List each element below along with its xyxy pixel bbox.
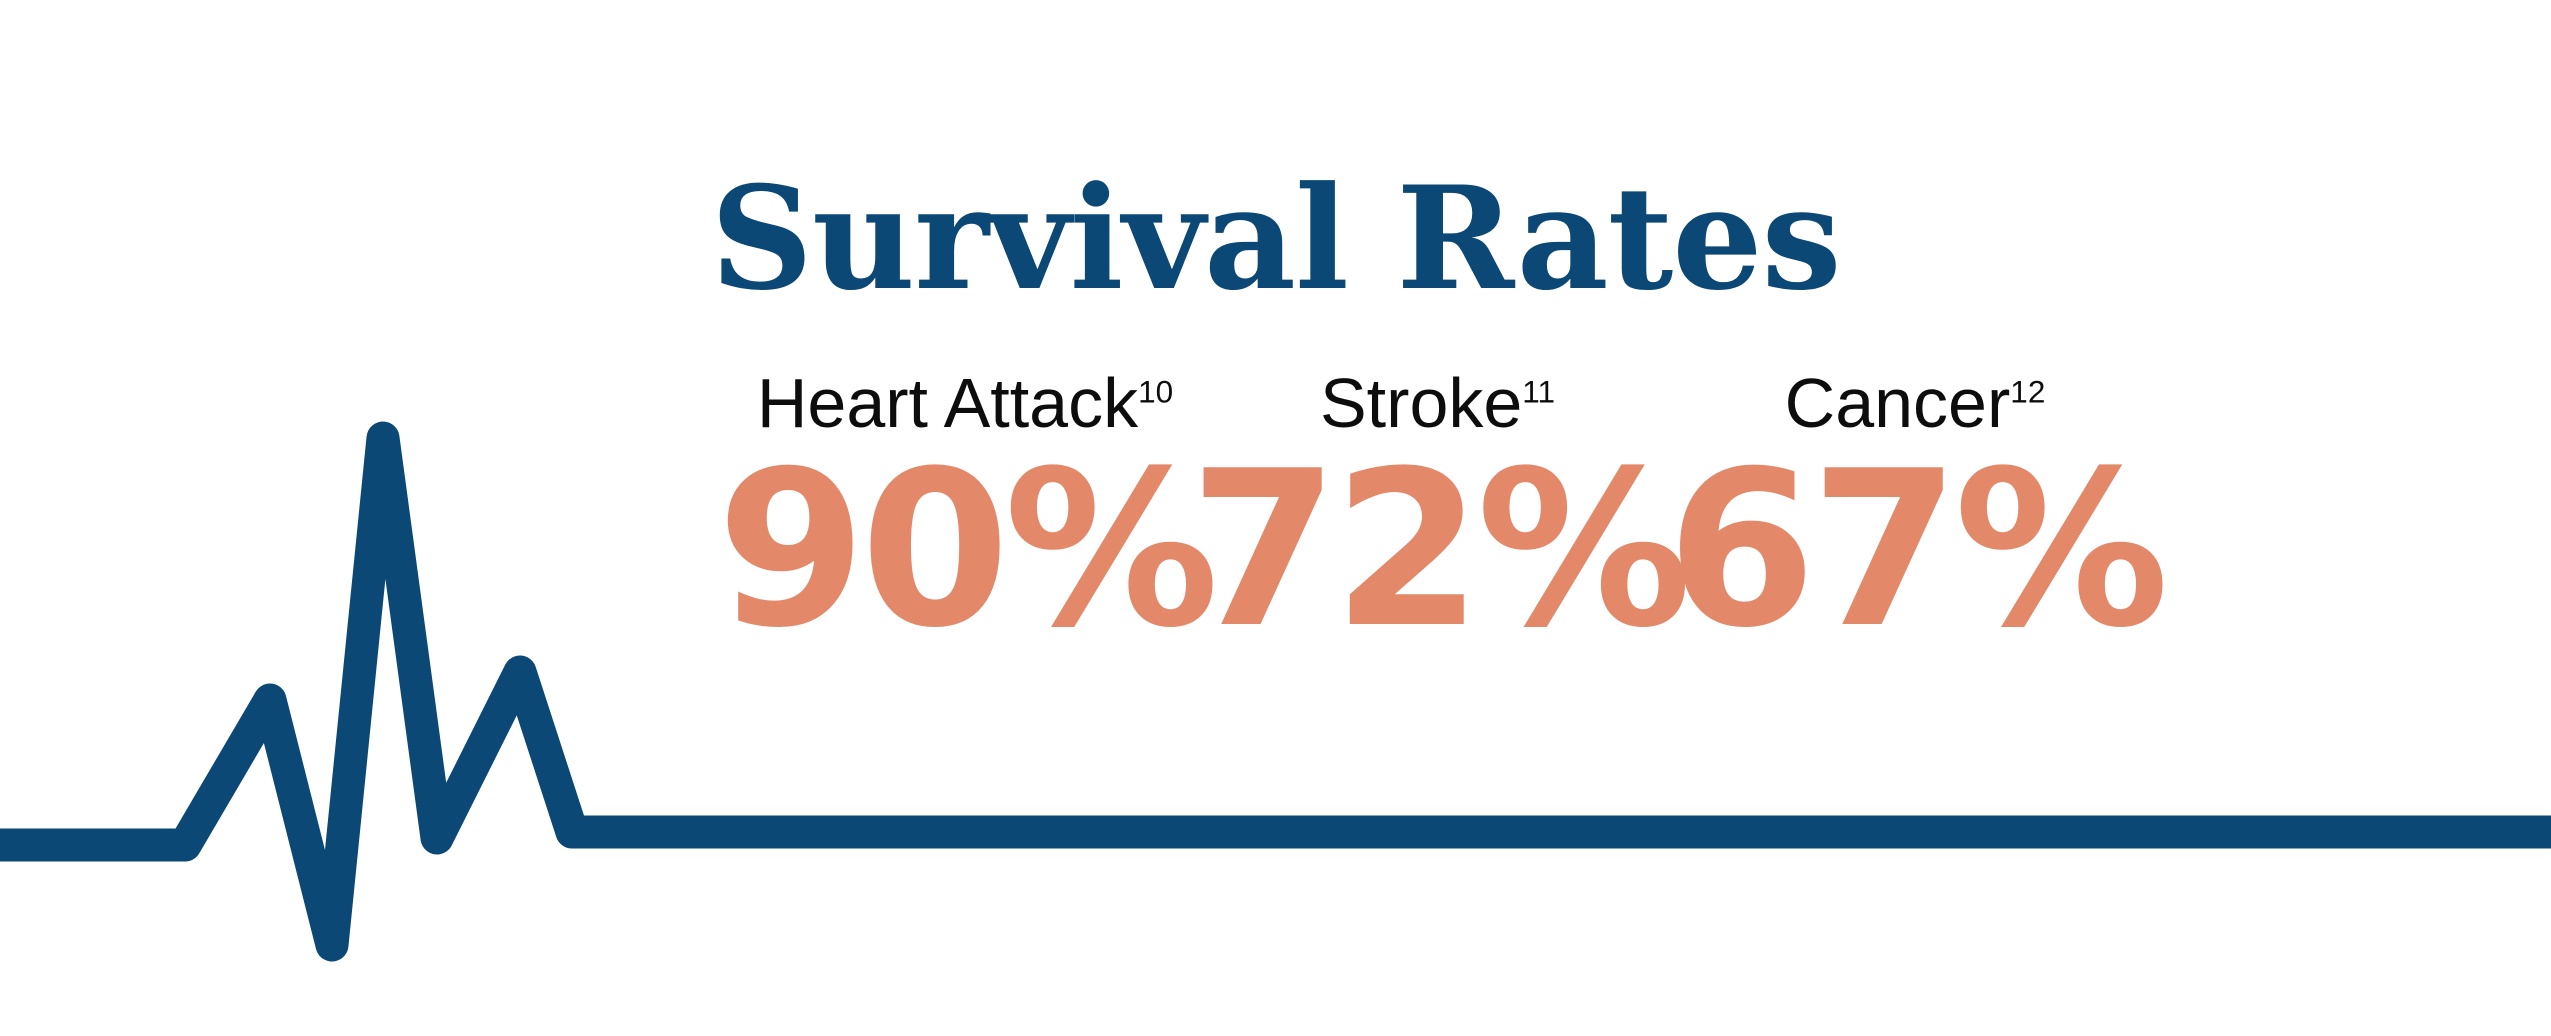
page-title: Survival Rates <box>0 168 2551 310</box>
stat-value-heart-attack: 90% <box>717 442 1214 657</box>
footnote-marker-heart-attack: 10 <box>1138 374 1173 410</box>
footnote-marker-stroke: 11 <box>1522 374 1555 410</box>
stat-value-stroke: 72% <box>1189 442 1686 657</box>
stats-row: Heart Attack10 90% Stroke11 72% Cancer12… <box>700 368 2200 698</box>
stat-block-cancer: Cancer12 67% <box>1700 368 2130 698</box>
footnote-marker-cancer: 12 <box>2010 374 2045 410</box>
stat-block-stroke: Stroke11 72% <box>1240 368 1635 698</box>
survival-rates-infographic: Survival Rates Heart Attack10 90% Stroke… <box>0 0 2551 1036</box>
stat-block-heart-attack: Heart Attack10 90% <box>715 368 1215 698</box>
stat-value-cancer: 67% <box>1667 442 2164 657</box>
